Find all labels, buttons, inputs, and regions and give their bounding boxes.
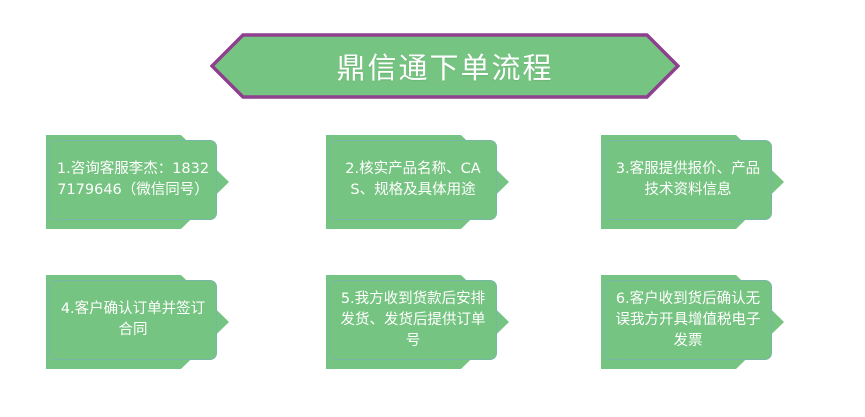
flow-step-2[interactable]: 2.核实产品名称、CAS、规格及具体用途	[325, 134, 555, 230]
step-label-4: 4.客户确认订单并签订合同	[49, 280, 217, 360]
flow-step-1[interactable]: 1.咨询客服李杰：18327179646（微信同号）	[45, 134, 275, 230]
flow-step-4[interactable]: 4.客户确认订单并签订合同	[45, 274, 275, 370]
step-label-6: 6.客户收到货后确认无误我方开具增值税电子发票	[604, 280, 772, 360]
page-title: 鼎信通下单流程	[210, 33, 680, 99]
flow-step-5[interactable]: 5.我方收到货款后安排发货、发货后提供订单号	[325, 274, 555, 370]
flow-step-3[interactable]: 3.客服提供报价、产品技术资料信息	[600, 134, 830, 230]
flowchart-title-banner: 鼎信通下单流程	[210, 33, 680, 99]
step-label-3: 3.客服提供报价、产品技术资料信息	[604, 140, 772, 220]
step-label-2: 2.核实产品名称、CAS、规格及具体用途	[329, 140, 497, 220]
flow-step-6[interactable]: 6.客户收到货后确认无误我方开具增值税电子发票	[600, 274, 830, 370]
step-label-5: 5.我方收到货款后安排发货、发货后提供订单号	[329, 280, 497, 360]
step-label-1: 1.咨询客服李杰：18327179646（微信同号）	[49, 140, 217, 220]
